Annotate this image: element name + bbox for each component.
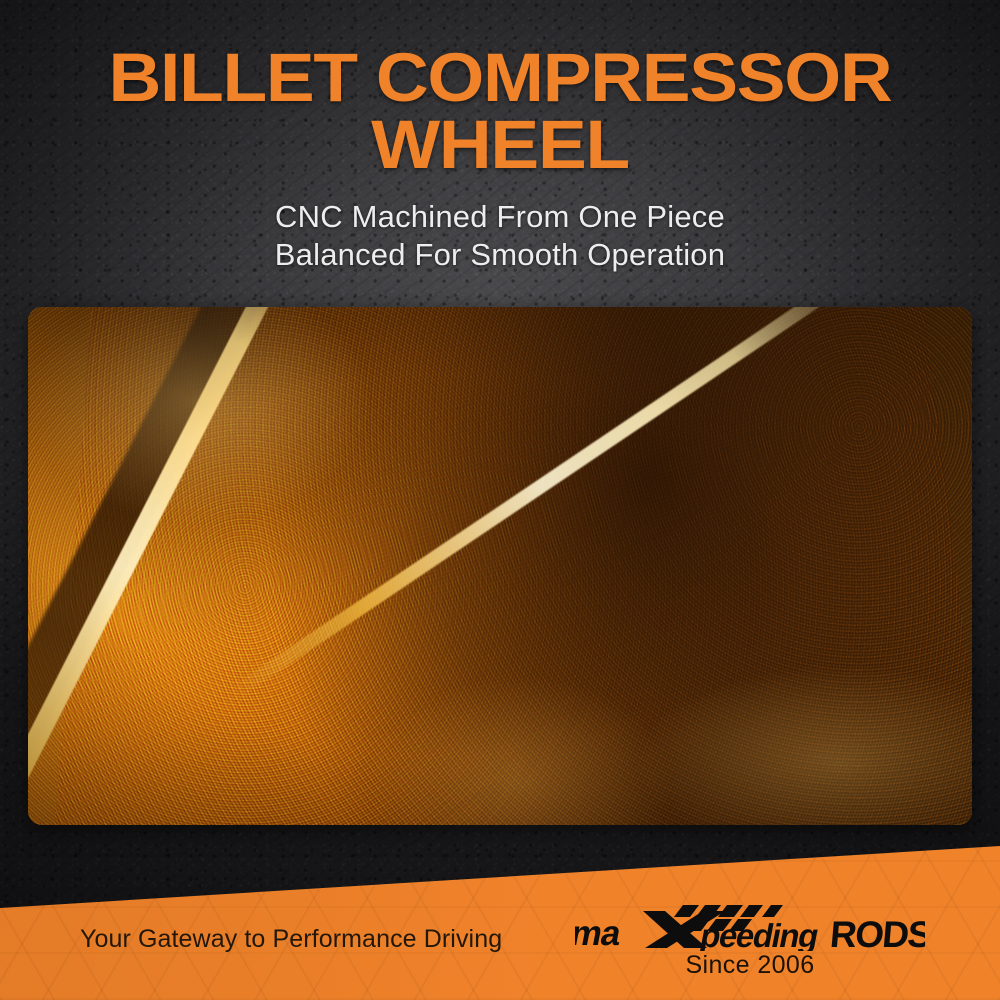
headline-block: BILLET COMPRESSOR WHEEL — [0, 46, 1000, 180]
product-photo — [28, 307, 972, 825]
subtitle-line-2: Balanced For Smooth Operation — [0, 236, 1000, 274]
photo-vignette — [28, 307, 972, 825]
headline-line-1: BILLET COMPRESSOR — [0, 46, 1000, 110]
brand-logo-svg: .lg-heavy{ font-family:"Liberation Sans"… — [575, 903, 925, 951]
footer-tagline: Your Gateway to Performance Driving — [80, 925, 502, 954]
subtitle-block: CNC Machined From One Piece Balanced For… — [0, 198, 1000, 274]
logo-text-rods: RODS — [828, 913, 925, 951]
product-banner: BILLET COMPRESSOR WHEEL CNC Machined Fro… — [0, 0, 1000, 1000]
headline-line-2: WHEEL — [0, 110, 1000, 180]
subtitle-line-1: CNC Machined From One Piece — [0, 198, 1000, 236]
logo-text-peeding: peeding — [697, 918, 821, 951]
brand-logo[interactable]: .lg-heavy{ font-family:"Liberation Sans"… — [575, 903, 925, 985]
brand-logo-wordmark: .lg-heavy{ font-family:"Liberation Sans"… — [575, 903, 925, 951]
logo-text-ma: ma — [575, 914, 625, 951]
logo-since-label: Since 2006 — [575, 951, 925, 980]
